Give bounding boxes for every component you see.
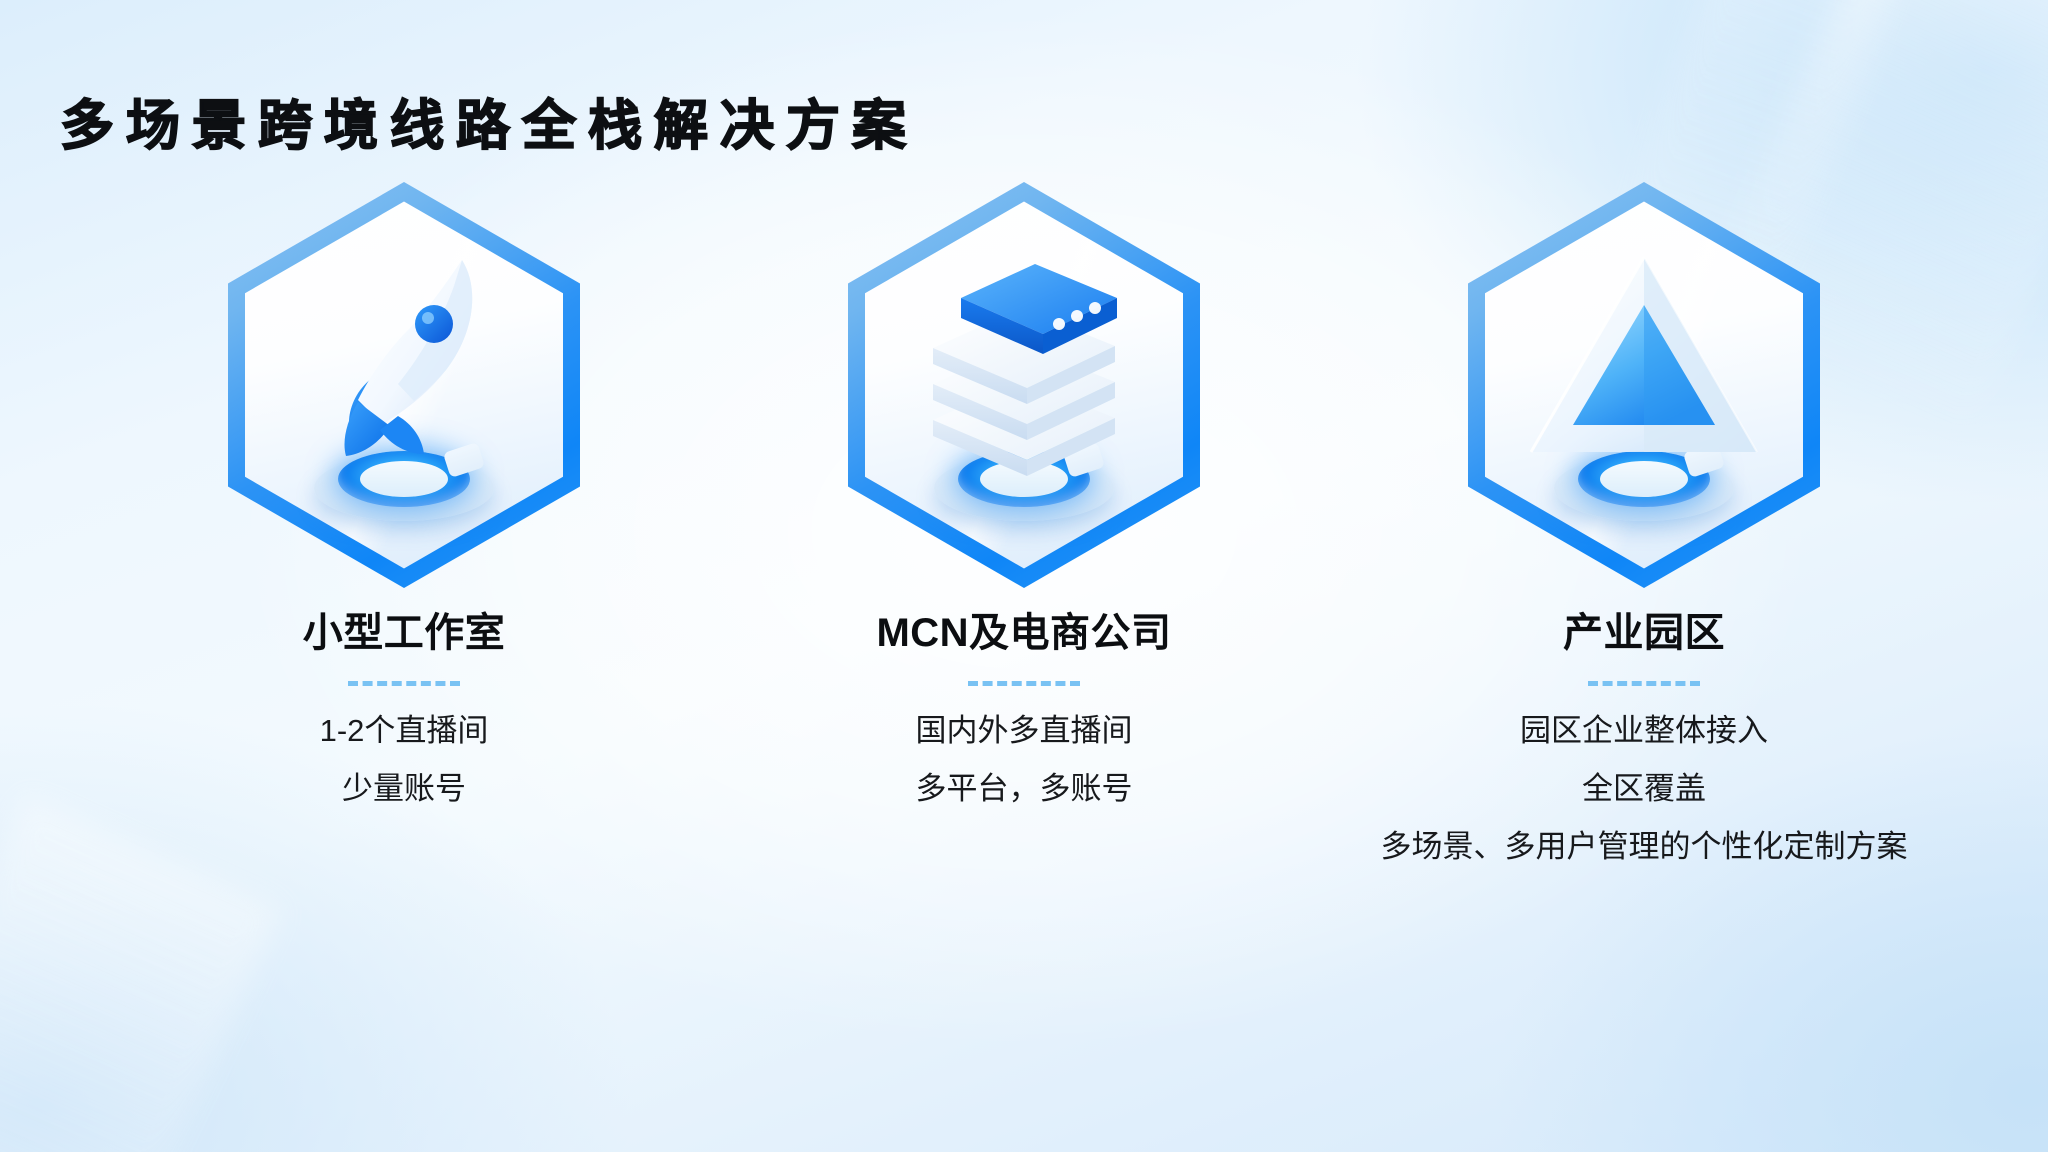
card-body: 园区企业整体接入 全区覆盖 多场景、多用户管理的个性化定制方案 (1381, 710, 1908, 868)
card-line: 园区企业整体接入 (1381, 710, 1908, 752)
card-line: 多场景、多用户管理的个性化定制方案 (1381, 826, 1908, 868)
card-body: 国内外多直播间 多平台，多账号 (916, 710, 1133, 810)
card-line: 少量账号 (320, 768, 489, 810)
card-body: 1-2个直播间 少量账号 (320, 710, 489, 810)
hex-badge-rocket (214, 175, 594, 595)
dashed-divider (348, 681, 460, 686)
dashed-divider (968, 681, 1080, 686)
card-heading: MCN及电商公司 (876, 607, 1171, 659)
card-line: 国内外多直播间 (916, 710, 1133, 752)
page-title: 多场景跨境线路全栈解决方案 (60, 94, 918, 158)
rocket-icon (294, 242, 514, 487)
card-industrial-park[interactable]: 产业园区 园区企业整体接入 全区覆盖 多场景、多用户管理的个性化定制方案 (1409, 175, 1879, 868)
card-line: 1-2个直播间 (320, 710, 489, 752)
server-stack-icon (909, 252, 1139, 487)
card-heading: 小型工作室 (303, 607, 506, 659)
solution-cards: 小型工作室 1-2个直播间 少量账号 (0, 175, 2048, 868)
card-line: 全区覆盖 (1381, 768, 1908, 810)
card-mcn-ecommerce[interactable]: MCN及电商公司 国内外多直播间 多平台，多账号 (789, 175, 1259, 810)
hex-badge-pyramid (1454, 175, 1834, 595)
poster-stage: 多场景跨境线路全栈解决方案 (0, 0, 2048, 1152)
card-line: 多平台，多账号 (916, 768, 1133, 810)
card-heading: 产业园区 (1563, 607, 1725, 659)
card-small-studio[interactable]: 小型工作室 1-2个直播间 少量账号 (169, 175, 639, 810)
dashed-divider (1588, 681, 1700, 686)
pyramid-icon (1519, 247, 1769, 487)
hex-badge-server (834, 175, 1214, 595)
